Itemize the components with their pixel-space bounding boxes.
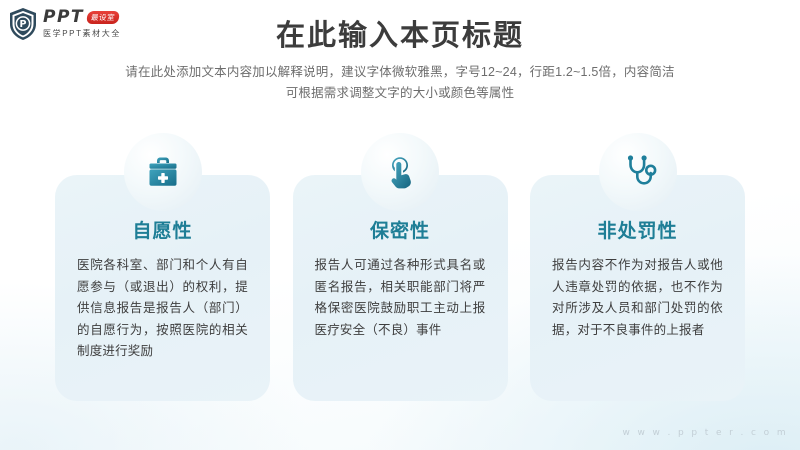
card-body: 医院各科室、部门和个人有自愿参与（或退出）的权利，提供信息报告是报告人（部门）的… bbox=[73, 255, 252, 363]
card-voluntary[interactable]: 自愿性 医院各科室、部门和个人有自愿参与（或退出）的权利，提供信息报告是报告人（… bbox=[55, 175, 270, 401]
card-title: 非处罚性 bbox=[548, 220, 727, 244]
card-title: 自愿性 bbox=[73, 220, 252, 244]
touch-hand-icon bbox=[361, 133, 439, 211]
first-aid-kit-icon bbox=[124, 133, 202, 211]
slide-canvas: P PPT 最设室 医学PPT素材大全 在此输入本页标题 请在此处添加文本内容加… bbox=[0, 0, 800, 450]
card-nonpunitive[interactable]: 非处罚性 报告内容不作为对报告人或他人违章处罚的依据，也不作为对所涉及人员和部门… bbox=[530, 175, 745, 401]
page-title: 在此输入本页标题 bbox=[0, 18, 800, 54]
card-title: 保密性 bbox=[311, 220, 490, 244]
card-body: 报告内容不作为对报告人或他人违章处罚的依据，也不作为对所涉及人员和部门处罚的依据… bbox=[548, 255, 727, 341]
subtitle-line-2: 可根据需求调整文字的大小或颜色等属性 bbox=[0, 83, 800, 104]
card-confidential[interactable]: 保密性 报告人可通过各种形式具名或匿名报告，相关职能部门将严格保密医院鼓励职工主… bbox=[293, 175, 508, 401]
site-watermark: w w w . p p t e r . c o m bbox=[622, 428, 788, 438]
card-body: 报告人可通过各种形式具名或匿名报告，相关职能部门将严格保密医院鼓励职工主动上报医… bbox=[311, 255, 490, 341]
page-subtitle: 请在此处添加文本内容加以解释说明，建议字体微软雅黑，字号12~24，行距1.2~… bbox=[0, 62, 800, 104]
card-row: 自愿性 医院各科室、部门和个人有自愿参与（或退出）的权利，提供信息报告是报告人（… bbox=[55, 175, 745, 401]
stethoscope-icon bbox=[599, 133, 677, 211]
subtitle-line-1: 请在此处添加文本内容加以解释说明，建议字体微软雅黑，字号12~24，行距1.2~… bbox=[0, 62, 800, 83]
